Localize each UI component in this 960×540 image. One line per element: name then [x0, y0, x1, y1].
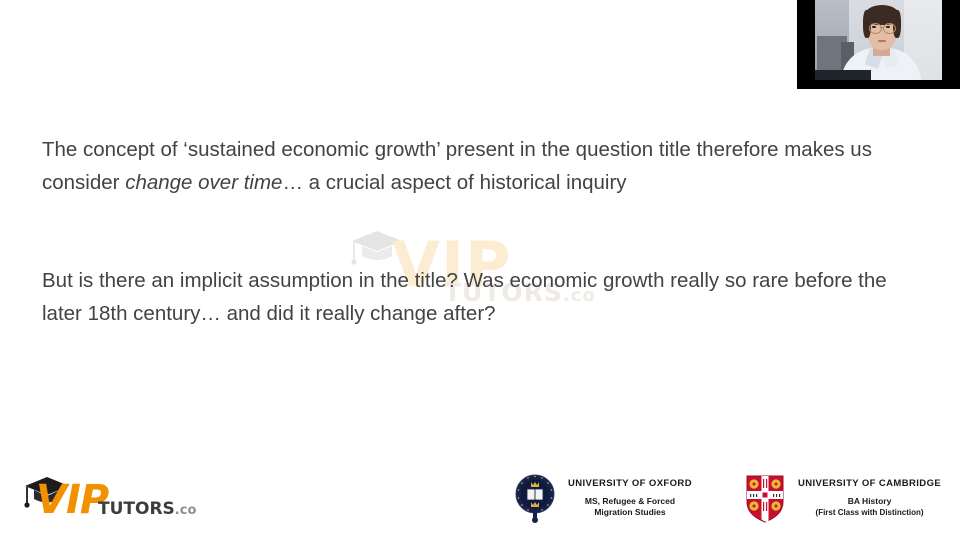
- paragraph-1-emphasis: change over time: [125, 171, 282, 194]
- webcam-video-frame: [815, 0, 942, 80]
- credential-oxford-text: UNIVERSITY OF OXFORD MS, Refugee & Force…: [568, 478, 692, 518]
- logo-tutors-text: TUTORS.co: [98, 501, 196, 518]
- graduation-cap-icon: [348, 228, 406, 268]
- webcam-foreground-shadow: [815, 70, 871, 80]
- cambridge-crest-icon: [742, 472, 788, 524]
- presenter-glasses-bridge: [880, 27, 883, 28]
- paragraph-1-tail: … a crucial aspect of historical inquiry: [282, 171, 626, 194]
- credential-cambridge: UNIVERSITY OF CAMBRIDGE BA History (Firs…: [742, 472, 941, 524]
- vip-tutors-logo: VIP TUTORS.co: [22, 474, 202, 526]
- logo-co-text: .co: [175, 503, 197, 518]
- credential-oxford-degree-line2: Migration Studies: [568, 507, 692, 518]
- presenter-glasses-left: [869, 23, 882, 34]
- presenter-webcam[interactable]: [797, 0, 960, 89]
- presenter-glasses-right: [883, 23, 896, 34]
- credential-oxford: UNIVERSITY OF OXFORD MS, Refugee & Force…: [512, 472, 692, 524]
- credential-cambridge-university: UNIVERSITY OF CAMBRIDGE: [798, 478, 941, 490]
- slide-paragraph-2: But is there an implicit assumption in t…: [42, 264, 922, 330]
- presenter-eye-left: [872, 26, 876, 28]
- credential-cambridge-text: UNIVERSITY OF CAMBRIDGE BA History (Firs…: [798, 478, 941, 518]
- presentation-slide: VIP TUTORS.co The concept of ‘sustained …: [0, 0, 960, 540]
- presenter-mouth: [878, 40, 886, 42]
- credential-cambridge-subtitle: (First Class with Distinction): [798, 507, 941, 518]
- slide-paragraph-1: The concept of ‘sustained economic growt…: [42, 133, 922, 199]
- credential-oxford-university: UNIVERSITY OF OXFORD: [568, 478, 692, 490]
- oxford-crest-icon: [512, 472, 558, 524]
- presenter-hair: [865, 5, 899, 25]
- credential-cambridge-degree: BA History: [798, 496, 941, 507]
- presenter-eye-right: [886, 26, 890, 28]
- credential-oxford-degree: MS, Refugee & Forced: [568, 496, 692, 507]
